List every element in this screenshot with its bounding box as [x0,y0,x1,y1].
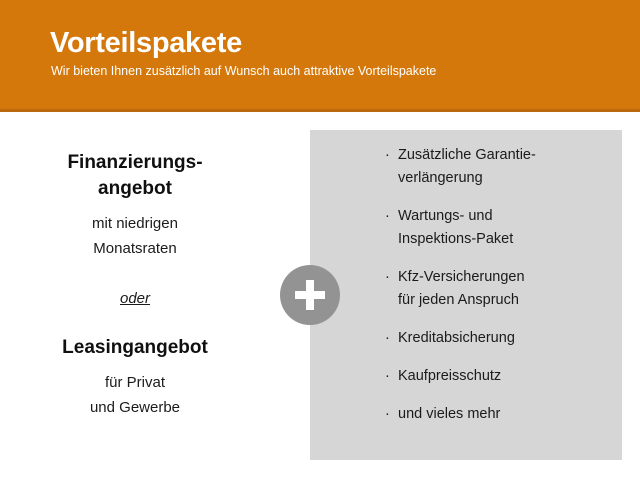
list-item-label: Kfz-Versicherungen für jeden Anspruch [398,266,614,312]
financing-offer-detail: mit niedrigen Monatsraten [25,211,245,261]
plus-icon [280,265,340,325]
list-item-label: Kaufpreisschutz [398,365,614,388]
header-band-underline [0,109,640,112]
list-item: · Wartungs- und Inspektions-Paket [384,205,614,251]
bullet-icon: · [385,327,395,350]
benefits-list: · Zusätzliche Garantie- verlängerung · W… [384,144,614,426]
bullet-icon: · [385,266,395,289]
plus-icon-vertical-bar [306,280,314,310]
list-item: · Kreditabsicherung [384,327,614,350]
page-title: Vorteilspakete [50,26,242,60]
offers-column: Finanzierungs- angebot mit niedrigen Mon… [25,150,245,420]
offer-separator-label: oder [25,287,245,311]
bullet-icon: · [385,365,395,388]
list-item-label: Zusätzliche Garantie- verlängerung [398,144,614,190]
bullet-icon: · [385,205,395,228]
list-item: · Zusätzliche Garantie- verlängerung [384,144,614,190]
list-item-label: Wartungs- und Inspektions-Paket [398,205,614,251]
leasing-offer-detail: für Privat und Gewerbe [25,370,245,420]
page-subtitle: Wir bieten Ihnen zusätzlich auf Wunsch a… [51,63,436,79]
list-item: · Kfz-Versicherungen für jeden Anspruch [384,266,614,312]
list-item-label: Kreditabsicherung [398,327,614,350]
leasing-offer-heading: Leasingangebot [25,335,245,361]
list-item-label: und vieles mehr [398,403,614,426]
bullet-icon: · [385,403,395,426]
list-item: · und vieles mehr [384,403,614,426]
financing-offer-heading: Finanzierungs- angebot [25,150,245,202]
list-item: · Kaufpreisschutz [384,365,614,388]
benefits-panel: · Zusätzliche Garantie- verlängerung · W… [310,130,622,460]
header-band: Vorteilspakete Wir bieten Ihnen zusätzli… [0,0,640,112]
bullet-icon: · [385,144,395,167]
